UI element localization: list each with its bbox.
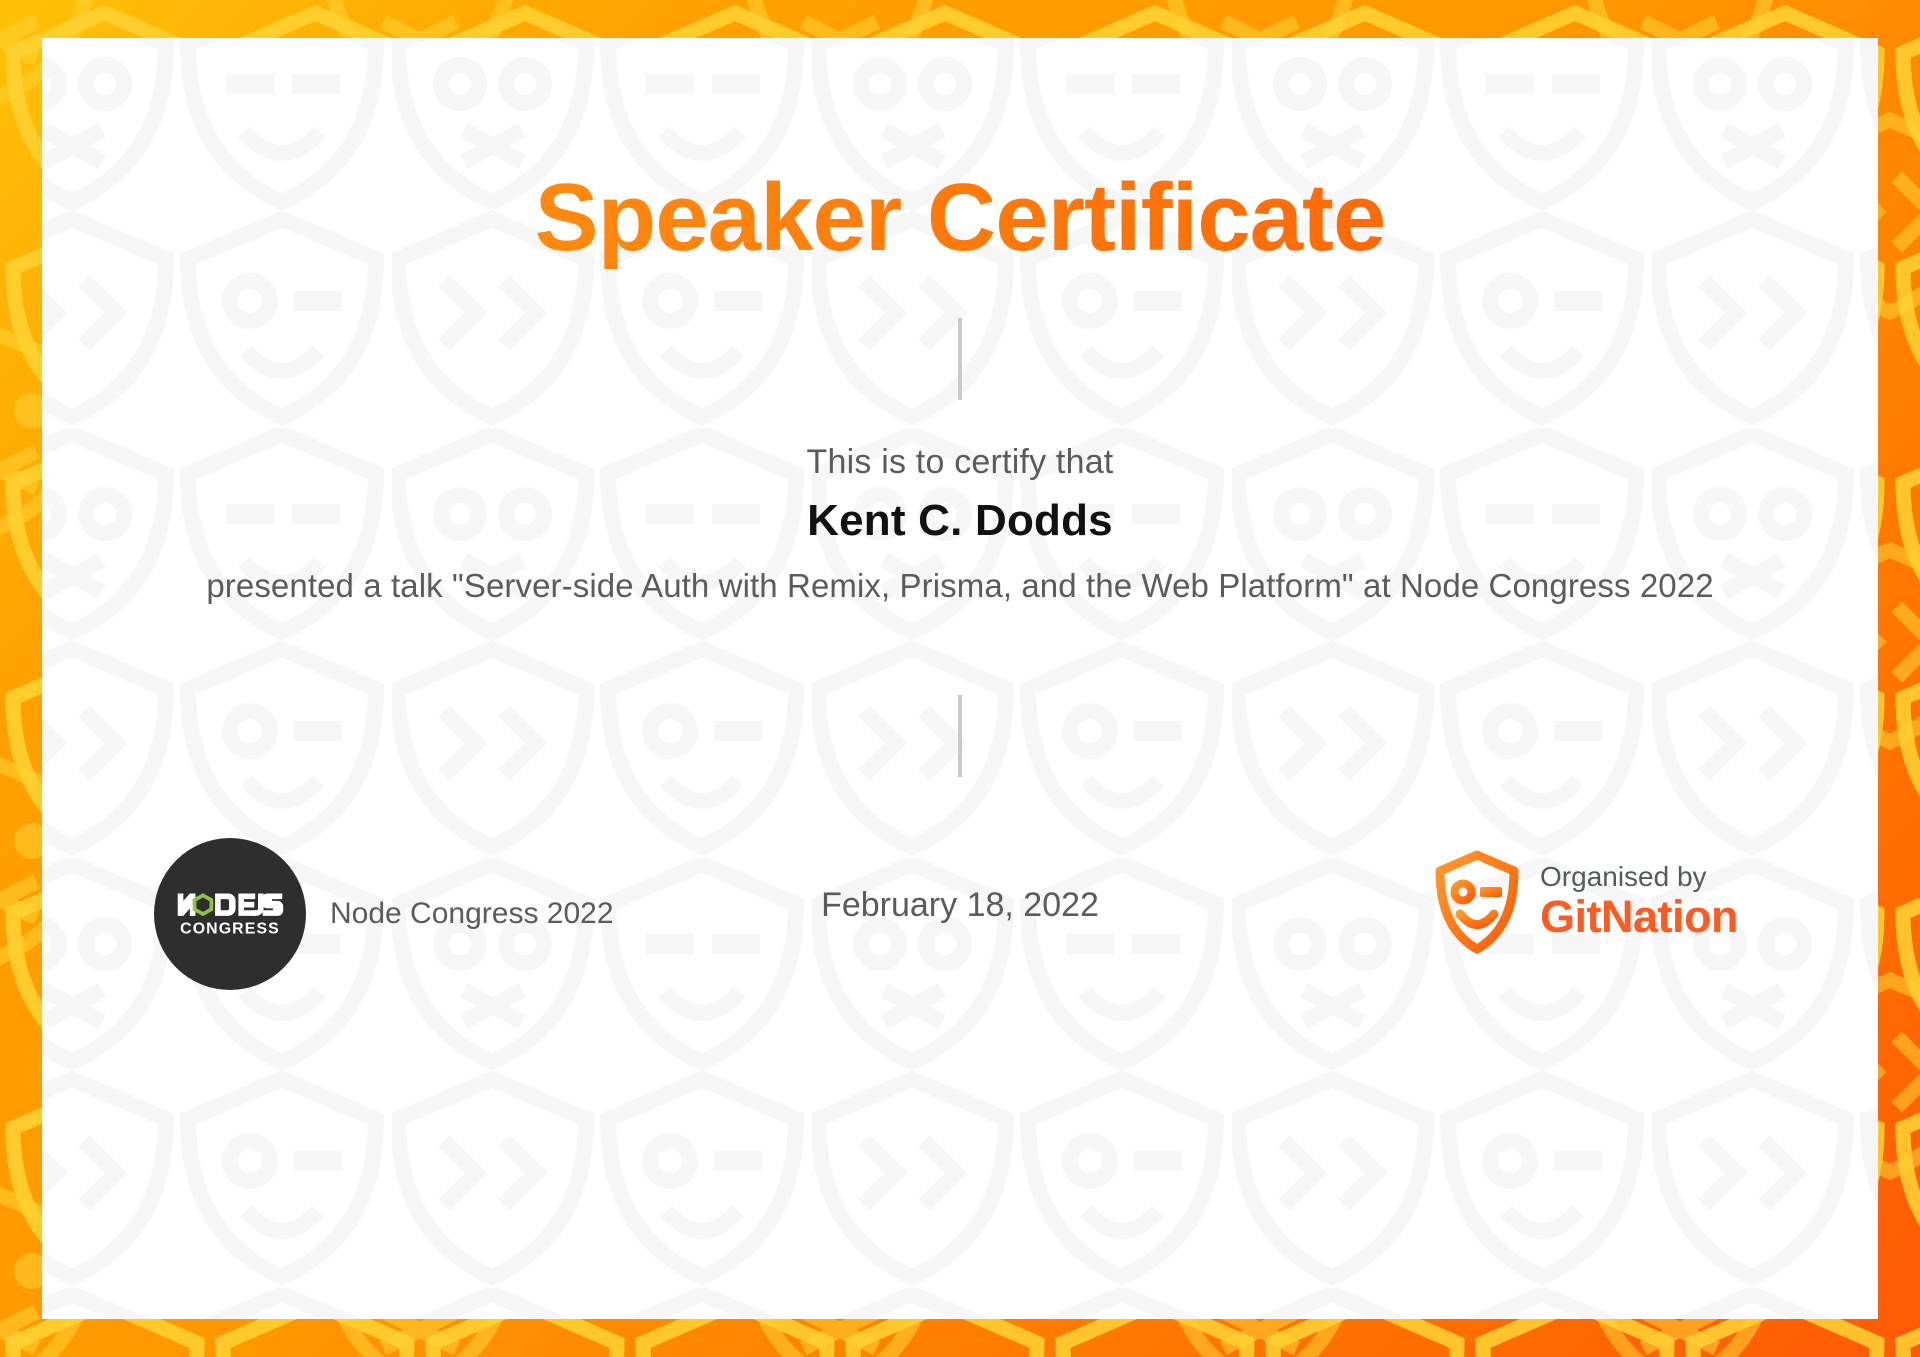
organiser-text: Organised by GitNation bbox=[1540, 861, 1738, 943]
certificate-card: Speaker Certificate This is to certify t… bbox=[42, 38, 1878, 1319]
organiser-name: GitNation bbox=[1540, 892, 1738, 942]
gitnation-shield-icon bbox=[1434, 850, 1520, 954]
certify-line: This is to certify that bbox=[42, 443, 1878, 482]
page-title: Speaker Certificate bbox=[42, 168, 1878, 269]
speaker-certificate: Speaker Certificate This is to certify t… bbox=[0, 0, 1920, 1357]
divider-bottom bbox=[958, 695, 962, 777]
certificate-footer: CONGRESS Node Congress 2022 February 18,… bbox=[42, 828, 1878, 1048]
recipient-name: Kent C. Dodds bbox=[42, 496, 1878, 546]
organiser-block: Organised by GitNation bbox=[1434, 850, 1738, 954]
talk-description: presented a talk "Server-side Auth with … bbox=[192, 566, 1728, 607]
organised-by-label: Organised by bbox=[1540, 861, 1738, 892]
divider-top bbox=[958, 318, 962, 400]
